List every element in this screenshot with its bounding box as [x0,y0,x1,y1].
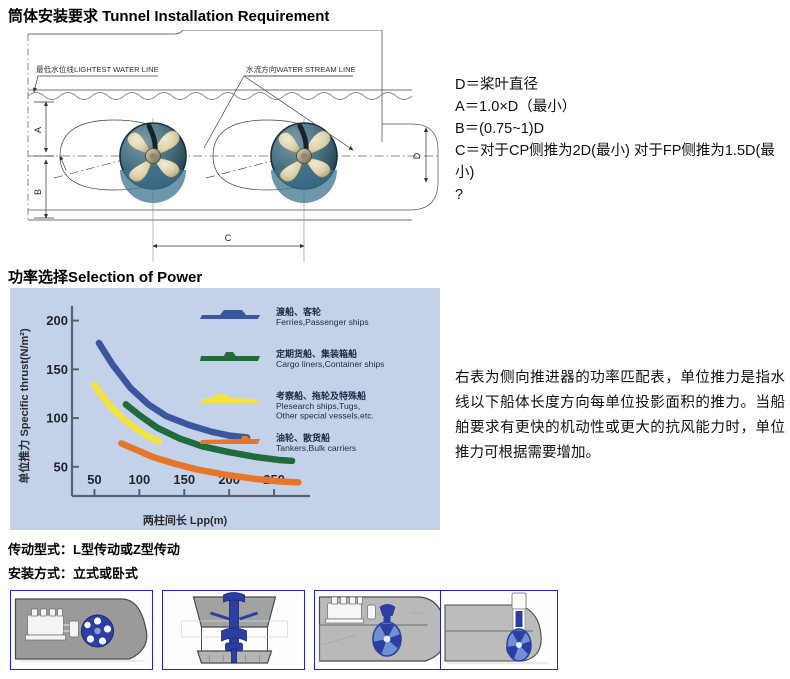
formula-line-d: D＝桨叶直径 [455,74,785,96]
x-tick-label: 50 [87,472,101,487]
legend-label-en: Other special vessels,etc. [276,411,374,421]
tunnel-installation-diagram: A B D C 最低水位线LIGHTEST WATER LINE 水流方向WAT… [8,30,440,262]
x-tick-label: 100 [129,472,151,487]
page-root: 筒体安装要求 Tunnel Installation Requirement [0,0,790,679]
formula-line-b: B＝(0.75~1)D [455,118,785,140]
legend-label-cn: 考察船、拖轮及特殊船 [276,390,366,401]
specific-thrust-chart: 5010015020050100150200250 渡船、客轮Ferries,P… [10,288,440,530]
legend-label-en: Cargo liners,Container ships [276,359,384,369]
y-tick-label: 200 [46,313,68,328]
y-axis-title: 单位推力 Specific thrust(N/m²) [17,328,31,484]
formula-line-extra: ? [455,184,785,206]
formula-line-c: C＝对于CP侧推为2D(最小) 对于FP侧推为1.5D(最小) [455,140,785,184]
thumbnail-vertical-z-drive-thruster[interactable] [162,590,305,670]
dimension-label-b: B [33,189,43,195]
power-section-title: 功率选择Selection of Power [8,266,202,287]
drive-type-line: 传动型式：L型传动或Z型传动 [8,539,180,558]
thumbnail-horizontal-l-drive-thruster[interactable] [10,590,153,670]
x-axis-title: 两柱间长 Lpp(m) [143,513,228,527]
dimension-label-d: D [412,152,422,159]
y-tick-label: 100 [46,411,68,426]
legend-label-cn: 渡船、客轮 [276,306,321,317]
dimension-label-a: A [33,127,43,133]
x-tick-label: 150 [173,472,195,487]
legend-label-cn: 油轮、散货船 [276,432,330,443]
propeller-unit-1 [120,123,186,203]
thumbnail-vertical-mount-thruster[interactable] [440,590,558,670]
formula-line-a: A＝1.0×D（最小） [455,96,785,118]
tunnel-section-title: 筒体安装要求 Tunnel Installation Requirement [8,5,329,26]
legend-label-en: Tankers,Bulk carriers [276,443,356,453]
thumbnail-engine-driven-tunnel-thruster[interactable] [314,590,457,670]
propeller-unit-2 [271,123,337,203]
legend-label-cn: 定期货船、集装箱船 [275,348,357,359]
dimension-formula-list: D＝桨叶直径 A＝1.0×D（最小） B＝(0.75~1)D C＝对于CP侧推为… [455,74,785,206]
y-tick-label: 50 [54,459,68,474]
lightest-water-line-label: 最低水位线LIGHTEST WATER LINE [36,64,159,74]
power-description-paragraph: 右表为侧向推进器的功率匹配表，单位推力是指水线以下船体长度方向每单位投影面积的推… [455,366,785,466]
dimension-label-c: C [225,233,232,243]
mount-type-line: 安装方式：立式或卧式 [8,563,138,582]
water-stream-line-label: 水流方向WATER STREAM LINE [246,64,356,74]
legend-label-en: Ferries,Passenger ships [276,317,369,327]
y-tick-label: 150 [46,362,68,377]
legend-label-en: Plesearch ships,Tugs, [276,401,360,411]
thruster-propeller [82,615,114,647]
